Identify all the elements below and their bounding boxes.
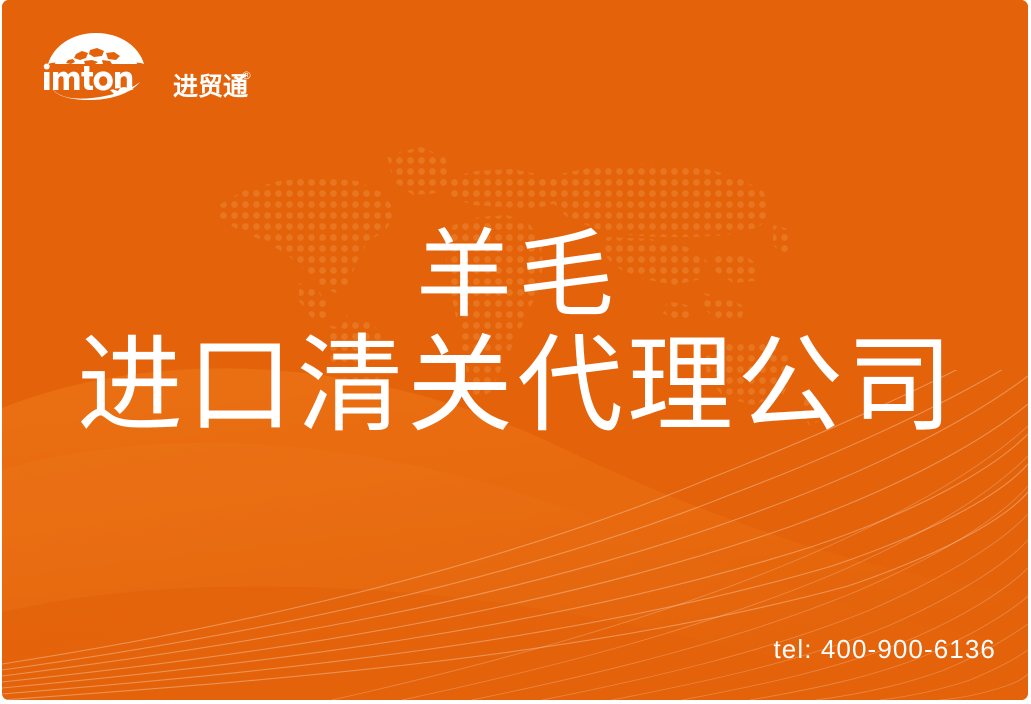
contact-phone[interactable]: tel: 400-900-6136	[773, 636, 996, 662]
globe-swoosh-icon	[40, 28, 152, 100]
headline-line-2: 进口清关代理公司	[2, 326, 1028, 446]
promo-banner: 进贸通 ® 羊毛 进口清关代理公司 tel: 400-900-6136	[0, 0, 1031, 704]
headline-line-1: 羊毛	[2, 224, 1028, 326]
brand-logo[interactable]: 进贸通 ®	[40, 28, 220, 100]
headline-block: 羊毛 进口清关代理公司	[2, 224, 1028, 446]
logo-chinese-name: 进贸通	[173, 74, 248, 99]
registered-mark-icon: ®	[241, 70, 252, 81]
banner-card: 进贸通 ® 羊毛 进口清关代理公司 tel: 400-900-6136	[2, 0, 1028, 700]
